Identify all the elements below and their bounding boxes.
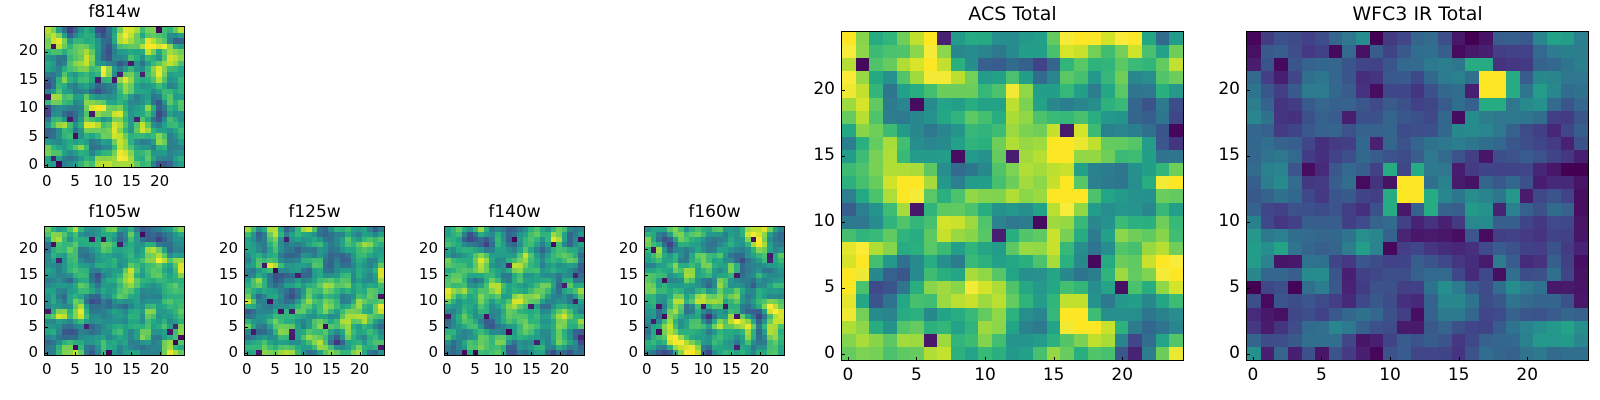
- xtick-mark-wfc3_ir_total-4: [1527, 357, 1528, 361]
- ytick-mark-f105w-1: [44, 327, 48, 328]
- xtick-label-f125w-2: 10: [273, 362, 333, 377]
- xtick-mark-acs_total-2: [985, 357, 986, 361]
- panel-f814w: f814w0510152005101520: [0, 0, 1600, 400]
- ytick-mark-wfc3_ir_total-2: [1246, 222, 1250, 223]
- panel-title-f160w: f160w: [644, 204, 785, 221]
- panel-title-f125w: f125w: [244, 204, 385, 221]
- xtick-mark-f814w-2: [103, 164, 104, 168]
- xtick-label-f814w-0: 0: [17, 174, 77, 189]
- ytick-mark-f814w-2: [44, 108, 48, 109]
- xtick-label-f125w-0: 0: [217, 362, 277, 377]
- panel-f140w: f140w0510152005101520: [0, 0, 1600, 400]
- panel-title-acs_total: ACS Total: [841, 5, 1184, 24]
- figure-canvas: f814w0510152005101520f105w05101520051015…: [0, 0, 1600, 400]
- xtick-mark-f160w-1: [675, 352, 676, 356]
- xtick-mark-f125w-1: [275, 352, 276, 356]
- xtick-label-f140w-1: 5: [445, 362, 505, 377]
- ytick-label-f140w-4: 20: [378, 241, 438, 256]
- xtick-label-f814w-4: 20: [130, 174, 190, 189]
- xtick-label-f125w-3: 15: [301, 362, 361, 377]
- xtick-mark-f160w-4: [760, 352, 761, 356]
- panel-title-f814w: f814w: [44, 4, 185, 21]
- xtick-label-wfc3_ir_total-3: 15: [1429, 367, 1489, 384]
- xtick-label-f814w-3: 15: [101, 174, 161, 189]
- xtick-label-f125w-1: 5: [245, 362, 305, 377]
- xtick-label-f160w-2: 10: [673, 362, 733, 377]
- xtick-mark-f105w-1: [75, 352, 76, 356]
- xtick-label-f125w-4: 20: [330, 362, 390, 377]
- xtick-label-wfc3_ir_total-2: 10: [1360, 367, 1420, 384]
- ytick-label-f160w-4: 20: [578, 241, 638, 256]
- ytick-label-f140w-2: 10: [378, 293, 438, 308]
- xtick-mark-f160w-2: [703, 352, 704, 356]
- ytick-label-f814w-1: 5: [0, 129, 38, 144]
- axes-f160w: [644, 226, 785, 356]
- ytick-label-wfc3_ir_total-4: 20: [1180, 81, 1240, 98]
- ytick-mark-f160w-0: [644, 353, 648, 354]
- ytick-mark-f140w-3: [444, 275, 448, 276]
- ytick-mark-f814w-1: [44, 137, 48, 138]
- heatmap-image-acs_total: [842, 32, 1183, 360]
- xtick-mark-wfc3_ir_total-0: [1253, 357, 1254, 361]
- ytick-mark-acs_total-1: [841, 288, 845, 289]
- ytick-mark-acs_total-4: [841, 90, 845, 91]
- xtick-mark-f105w-4: [160, 352, 161, 356]
- xtick-label-acs_total-4: 20: [1092, 367, 1152, 384]
- ytick-mark-f125w-2: [244, 301, 248, 302]
- xtick-label-wfc3_ir_total-0: 0: [1223, 367, 1283, 384]
- xtick-label-acs_total-2: 10: [955, 367, 1015, 384]
- ytick-label-f140w-1: 5: [378, 319, 438, 334]
- xtick-mark-f140w-3: [531, 352, 532, 356]
- panel-f160w: f160w0510152005101520: [0, 0, 1600, 400]
- panel-acs_total: ACS Total0510152005101520: [0, 0, 1600, 400]
- ytick-label-acs_total-3: 15: [775, 147, 835, 164]
- xtick-mark-f160w-0: [647, 352, 648, 356]
- xtick-mark-acs_total-4: [1122, 357, 1123, 361]
- xtick-label-f160w-0: 0: [617, 362, 677, 377]
- heatmap-image-f160w: [645, 227, 784, 355]
- xtick-mark-f125w-0: [247, 352, 248, 356]
- ytick-mark-f814w-3: [44, 80, 48, 81]
- xtick-label-f105w-3: 15: [101, 362, 161, 377]
- xtick-mark-f814w-4: [160, 164, 161, 168]
- ytick-label-acs_total-4: 20: [775, 81, 835, 98]
- xtick-mark-f140w-2: [503, 352, 504, 356]
- ytick-mark-wfc3_ir_total-3: [1246, 156, 1250, 157]
- panel-wfc3_ir_total: WFC3 IR Total0510152005101520: [0, 0, 1600, 400]
- ytick-label-f125w-1: 5: [178, 319, 238, 334]
- xtick-mark-f125w-2: [303, 352, 304, 356]
- xtick-label-f140w-3: 15: [501, 362, 561, 377]
- ytick-label-f160w-3: 15: [578, 267, 638, 282]
- panel-title-f105w: f105w: [44, 204, 185, 221]
- xtick-label-f160w-4: 20: [730, 362, 790, 377]
- heatmap-image-f105w: [45, 227, 184, 355]
- xtick-label-f105w-1: 5: [45, 362, 105, 377]
- heatmap-image-f814w: [45, 27, 184, 167]
- axes-f140w: [444, 226, 585, 356]
- ytick-label-f160w-2: 10: [578, 293, 638, 308]
- xtick-mark-f814w-1: [75, 164, 76, 168]
- panel-f105w: f105w0510152005101520: [0, 0, 1600, 400]
- xtick-label-f160w-1: 5: [645, 362, 705, 377]
- ytick-label-f814w-2: 10: [0, 100, 38, 115]
- heatmap-image-f125w: [245, 227, 384, 355]
- xtick-label-acs_total-3: 15: [1024, 367, 1084, 384]
- ytick-label-f125w-3: 15: [178, 267, 238, 282]
- xtick-mark-f140w-0: [447, 352, 448, 356]
- xtick-mark-wfc3_ir_total-3: [1459, 357, 1460, 361]
- ytick-label-acs_total-1: 5: [775, 279, 835, 296]
- xtick-mark-f105w-2: [103, 352, 104, 356]
- ytick-mark-f105w-4: [44, 249, 48, 250]
- ytick-label-wfc3_ir_total-0: 0: [1180, 345, 1240, 362]
- xtick-mark-f140w-1: [475, 352, 476, 356]
- ytick-label-f814w-0: 0: [0, 157, 38, 172]
- xtick-mark-f160w-3: [731, 352, 732, 356]
- axes-acs_total: [841, 31, 1184, 361]
- axes-wfc3_ir_total: [1246, 31, 1589, 361]
- ytick-mark-f125w-0: [244, 353, 248, 354]
- ytick-mark-f125w-3: [244, 275, 248, 276]
- ytick-label-wfc3_ir_total-3: 15: [1180, 147, 1240, 164]
- ytick-mark-wfc3_ir_total-4: [1246, 90, 1250, 91]
- ytick-mark-f160w-2: [644, 301, 648, 302]
- ytick-label-f125w-4: 20: [178, 241, 238, 256]
- ytick-mark-f160w-4: [644, 249, 648, 250]
- xtick-mark-f814w-3: [131, 164, 132, 168]
- ytick-label-acs_total-0: 0: [775, 345, 835, 362]
- xtick-label-f105w-0: 0: [17, 362, 77, 377]
- ytick-mark-f105w-2: [44, 301, 48, 302]
- ytick-mark-wfc3_ir_total-1: [1246, 288, 1250, 289]
- ytick-label-wfc3_ir_total-1: 5: [1180, 279, 1240, 296]
- ytick-mark-f160w-3: [644, 275, 648, 276]
- xtick-mark-acs_total-0: [848, 357, 849, 361]
- xtick-mark-f140w-4: [560, 352, 561, 356]
- ytick-label-f814w-3: 15: [0, 72, 38, 87]
- ytick-label-f105w-0: 0: [0, 345, 38, 360]
- xtick-label-f160w-3: 15: [701, 362, 761, 377]
- ytick-label-f140w-0: 0: [378, 345, 438, 360]
- xtick-label-f140w-0: 0: [417, 362, 477, 377]
- ytick-label-f125w-0: 0: [178, 345, 238, 360]
- ytick-mark-f125w-1: [244, 327, 248, 328]
- axes-f105w: [44, 226, 185, 356]
- heatmap-image-wfc3_ir_total: [1247, 32, 1588, 360]
- xtick-label-acs_total-0: 0: [818, 367, 878, 384]
- ytick-mark-acs_total-3: [841, 156, 845, 157]
- xtick-label-f814w-1: 5: [45, 174, 105, 189]
- xtick-label-acs_total-1: 5: [886, 367, 946, 384]
- axes-f125w: [244, 226, 385, 356]
- axes-f814w: [44, 26, 185, 168]
- xtick-label-f140w-2: 10: [473, 362, 533, 377]
- xtick-label-f814w-2: 10: [73, 174, 133, 189]
- ytick-mark-f814w-4: [44, 52, 48, 53]
- xtick-mark-wfc3_ir_total-2: [1390, 357, 1391, 361]
- xtick-mark-f105w-0: [47, 352, 48, 356]
- ytick-label-wfc3_ir_total-2: 10: [1180, 213, 1240, 230]
- xtick-label-f105w-4: 20: [130, 362, 190, 377]
- ytick-label-f125w-2: 10: [178, 293, 238, 308]
- ytick-mark-f105w-3: [44, 275, 48, 276]
- panel-title-wfc3_ir_total: WFC3 IR Total: [1246, 5, 1589, 24]
- xtick-mark-f125w-3: [331, 352, 332, 356]
- xtick-mark-f125w-4: [360, 352, 361, 356]
- ytick-mark-f140w-1: [444, 327, 448, 328]
- xtick-label-f140w-4: 20: [530, 362, 590, 377]
- ytick-mark-f160w-1: [644, 327, 648, 328]
- ytick-label-f814w-4: 20: [0, 43, 38, 58]
- ytick-mark-f814w-0: [44, 165, 48, 166]
- ytick-mark-f125w-4: [244, 249, 248, 250]
- xtick-label-wfc3_ir_total-4: 20: [1497, 367, 1557, 384]
- ytick-label-f105w-2: 10: [0, 293, 38, 308]
- ytick-mark-f140w-4: [444, 249, 448, 250]
- xtick-mark-f814w-0: [47, 164, 48, 168]
- panel-title-f140w: f140w: [444, 204, 585, 221]
- ytick-label-f160w-0: 0: [578, 345, 638, 360]
- ytick-mark-acs_total-0: [841, 354, 845, 355]
- ytick-mark-wfc3_ir_total-0: [1246, 354, 1250, 355]
- xtick-label-wfc3_ir_total-1: 5: [1291, 367, 1351, 384]
- xtick-mark-acs_total-3: [1054, 357, 1055, 361]
- xtick-label-f105w-2: 10: [73, 362, 133, 377]
- ytick-mark-f140w-2: [444, 301, 448, 302]
- ytick-label-acs_total-2: 10: [775, 213, 835, 230]
- ytick-label-f160w-1: 5: [578, 319, 638, 334]
- ytick-label-f105w-1: 5: [0, 319, 38, 334]
- panel-f125w: f125w0510152005101520: [0, 0, 1600, 400]
- ytick-label-f140w-3: 15: [378, 267, 438, 282]
- ytick-mark-acs_total-2: [841, 222, 845, 223]
- xtick-mark-acs_total-1: [916, 357, 917, 361]
- xtick-mark-wfc3_ir_total-1: [1321, 357, 1322, 361]
- ytick-mark-f140w-0: [444, 353, 448, 354]
- heatmap-image-f140w: [445, 227, 584, 355]
- ytick-label-f105w-3: 15: [0, 267, 38, 282]
- ytick-label-f105w-4: 20: [0, 241, 38, 256]
- ytick-mark-f105w-0: [44, 353, 48, 354]
- xtick-mark-f105w-3: [131, 352, 132, 356]
